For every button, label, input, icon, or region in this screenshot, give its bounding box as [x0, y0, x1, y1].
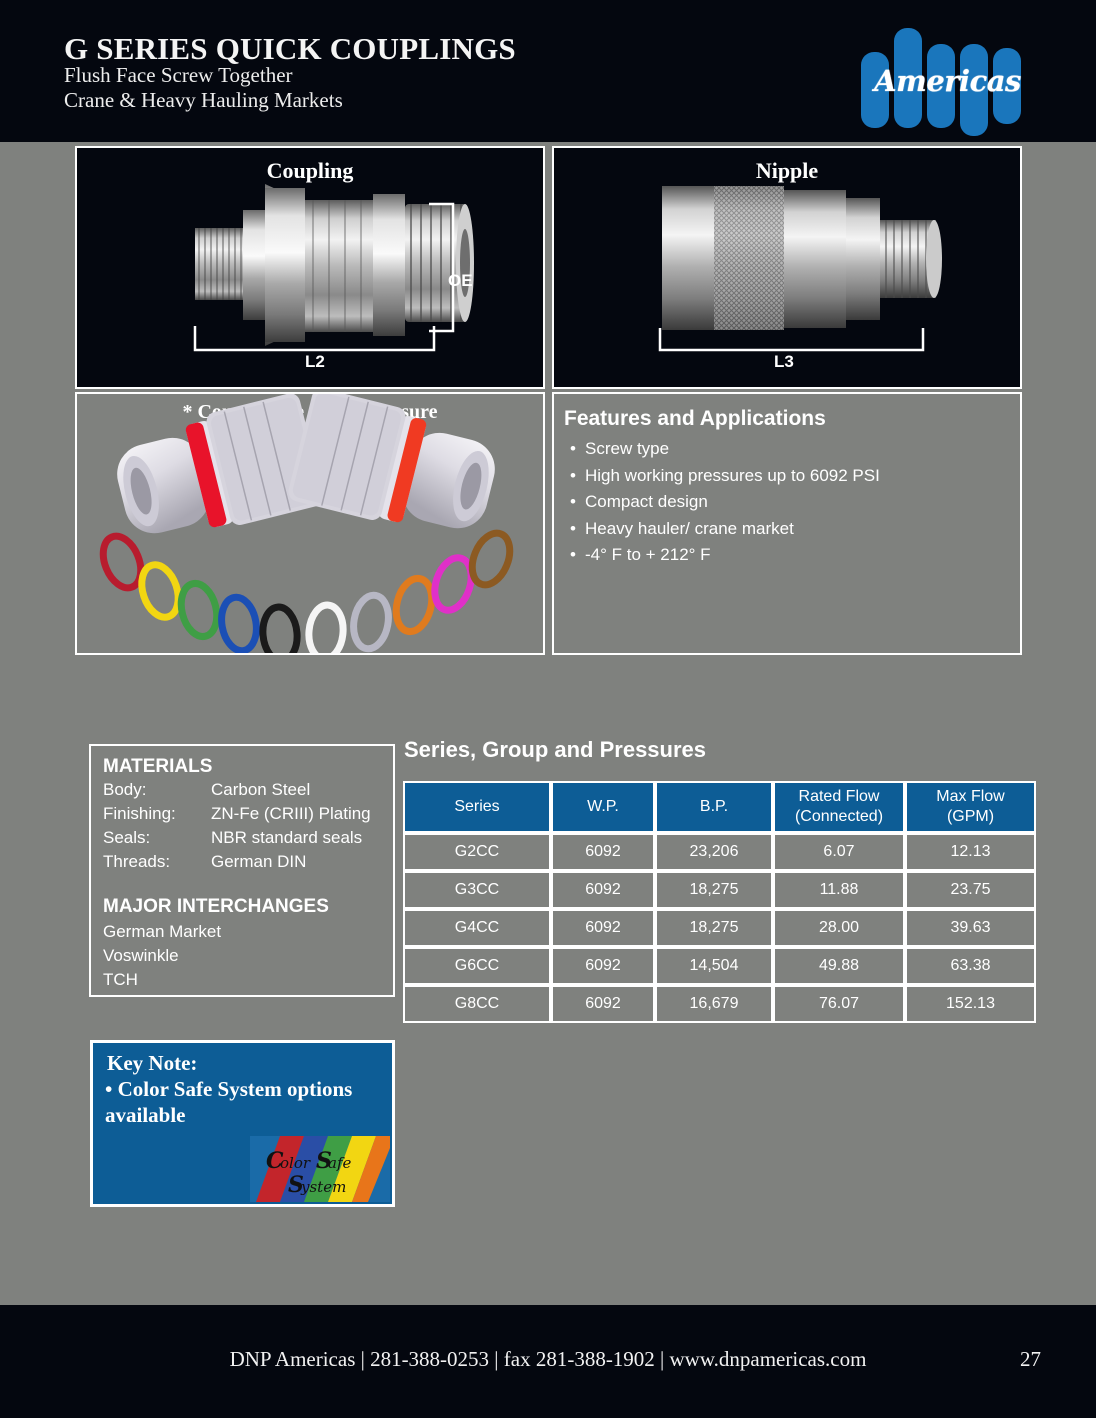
- major-interchanges-heading: MAJOR INTERCHANGES: [103, 896, 329, 918]
- materials-row-value: Carbon Steel: [211, 780, 310, 799]
- cell-rated-flow: 6.07: [773, 833, 905, 871]
- table-header-row: Series W.P. B.P. Rated Flow(Connected) M…: [403, 781, 1036, 833]
- cell-series: G6CC: [403, 947, 551, 985]
- logo-wordmark: Americas: [865, 64, 1030, 98]
- nipple-dimension-l3: L3: [774, 352, 794, 372]
- key-note-box: Key Note: Color Safe System options avai…: [90, 1040, 395, 1207]
- connectable-under-pressure-panel: * Connectable under pressure: [75, 392, 545, 655]
- table-column-header-max-flow: Max Flow(GPM): [905, 781, 1036, 833]
- page-header: G SERIES QUICK COUPLINGS Flush Face Scre…: [0, 0, 1096, 142]
- svg-text:olor: olor: [280, 1154, 311, 1172]
- cell-wp: 6092: [551, 833, 655, 871]
- table-row: G6CC 6092 14,504 49.88 63.38: [403, 947, 1036, 985]
- materials-row-value: ZN-Fe (CRIII) Plating: [211, 804, 371, 823]
- cell-bp: 23,206: [655, 833, 773, 871]
- cell-max-flow: 63.38: [905, 947, 1036, 985]
- materials-box: MATERIALS Body:Carbon Steel Finishing:ZN…: [89, 744, 395, 997]
- svg-text:afe: afe: [328, 1154, 351, 1172]
- table-column-header-rated-flow: Rated Flow(Connected): [773, 781, 905, 833]
- table-row: G3CC 6092 18,275 11.88 23.75: [403, 871, 1036, 909]
- cell-series: G3CC: [403, 871, 551, 909]
- cell-series: G2CC: [403, 833, 551, 871]
- dnp-americas-logo: Americas: [855, 16, 1030, 136]
- materials-row: Threads:German DIN: [103, 852, 306, 872]
- table-row: G2CC 6092 23,206 6.07 12.13: [403, 833, 1036, 871]
- interchange-item: TCH: [103, 970, 138, 990]
- table-row: G8CC 6092 16,679 76.07 152.13: [403, 985, 1036, 1023]
- footer-contact-text: DNP Americas | 281-388-0253 | fax 281-38…: [0, 1347, 1096, 1372]
- cell-max-flow: 12.13: [905, 833, 1036, 871]
- series-group-pressures-table: Series W.P. B.P. Rated Flow(Connected) M…: [403, 781, 1036, 1023]
- cell-rated-flow: 11.88: [773, 871, 905, 909]
- feature-item: Heavy hauler/ crane market: [570, 516, 880, 543]
- table-column-header-wp: W.P.: [551, 781, 655, 833]
- page-title: G SERIES QUICK COUPLINGS: [64, 31, 516, 67]
- features-panel: Features and Applications Screw type Hig…: [552, 392, 1022, 655]
- cell-bp: 16,679: [655, 985, 773, 1023]
- page-footer: DNP Americas | 281-388-0253 | fax 281-38…: [0, 1305, 1096, 1418]
- materials-row-value: NBR standard seals: [211, 828, 362, 847]
- cell-rated-flow: 28.00: [773, 909, 905, 947]
- color-safe-system-logo: C olor S afe S ystem: [250, 1136, 390, 1202]
- cell-series: G8CC: [403, 985, 551, 1023]
- cell-wp: 6092: [551, 871, 655, 909]
- spec-table-title: Series, Group and Pressures: [404, 737, 706, 763]
- cell-max-flow: 23.75: [905, 871, 1036, 909]
- materials-row-key: Seals:: [103, 828, 211, 848]
- features-list: Screw type High working pressures up to …: [570, 436, 880, 569]
- page-number: 27: [1020, 1347, 1041, 1372]
- feature-item: Screw type: [570, 436, 880, 463]
- cell-rated-flow: 49.88: [773, 947, 905, 985]
- materials-row: Body:Carbon Steel: [103, 780, 310, 800]
- materials-row: Seals:NBR standard seals: [103, 828, 362, 848]
- feature-item: High working pressures up to 6092 PSI: [570, 463, 880, 490]
- svg-text:ystem: ystem: [300, 1178, 346, 1196]
- table-column-header-bp: B.P.: [655, 781, 773, 833]
- cell-wp: 6092: [551, 947, 655, 985]
- cell-wp: 6092: [551, 909, 655, 947]
- feature-item: Compact design: [570, 489, 880, 516]
- materials-row-key: Finishing:: [103, 804, 211, 824]
- cell-max-flow: 39.63: [905, 909, 1036, 947]
- materials-heading: MATERIALS: [103, 756, 212, 778]
- materials-row-key: Body:: [103, 780, 211, 800]
- materials-row: Finishing:ZN-Fe (CRIII) Plating: [103, 804, 371, 824]
- cell-bp: 18,275: [655, 909, 773, 947]
- table-row: G4CC 6092 18,275 28.00 39.63: [403, 909, 1036, 947]
- coupling-dimension-l2: L2: [305, 352, 325, 372]
- cell-rated-flow: 76.07: [773, 985, 905, 1023]
- materials-row-key: Threads:: [103, 852, 211, 872]
- cell-wp: 6092: [551, 985, 655, 1023]
- nipple-panel: Nipple: [552, 146, 1022, 389]
- color-ring-couplings-photo: [77, 394, 543, 653]
- feature-item: -4° F to + 212° F: [570, 542, 880, 569]
- interchange-item: Voswinkle: [103, 946, 179, 966]
- key-note-title: Key Note:: [107, 1051, 197, 1076]
- materials-row-value: German DIN: [211, 852, 306, 871]
- cell-max-flow: 152.13: [905, 985, 1036, 1023]
- features-heading: Features and Applications: [564, 407, 826, 431]
- coupling-panel: Coupling: [75, 146, 545, 389]
- color-safe-system-logo-icon: C olor S afe S ystem: [250, 1136, 390, 1202]
- page-subtitle-2: Crane & Heavy Hauling Markets: [64, 88, 343, 113]
- page-subtitle-1: Flush Face Screw Together: [64, 63, 293, 88]
- table-column-header-series: Series: [403, 781, 551, 833]
- interchange-item: German Market: [103, 922, 221, 942]
- cell-series: G4CC: [403, 909, 551, 947]
- cell-bp: 14,504: [655, 947, 773, 985]
- cell-bp: 18,275: [655, 871, 773, 909]
- key-note-bullet: Color Safe System options available: [105, 1076, 390, 1128]
- coupling-dimension-oe: OE: [448, 271, 473, 291]
